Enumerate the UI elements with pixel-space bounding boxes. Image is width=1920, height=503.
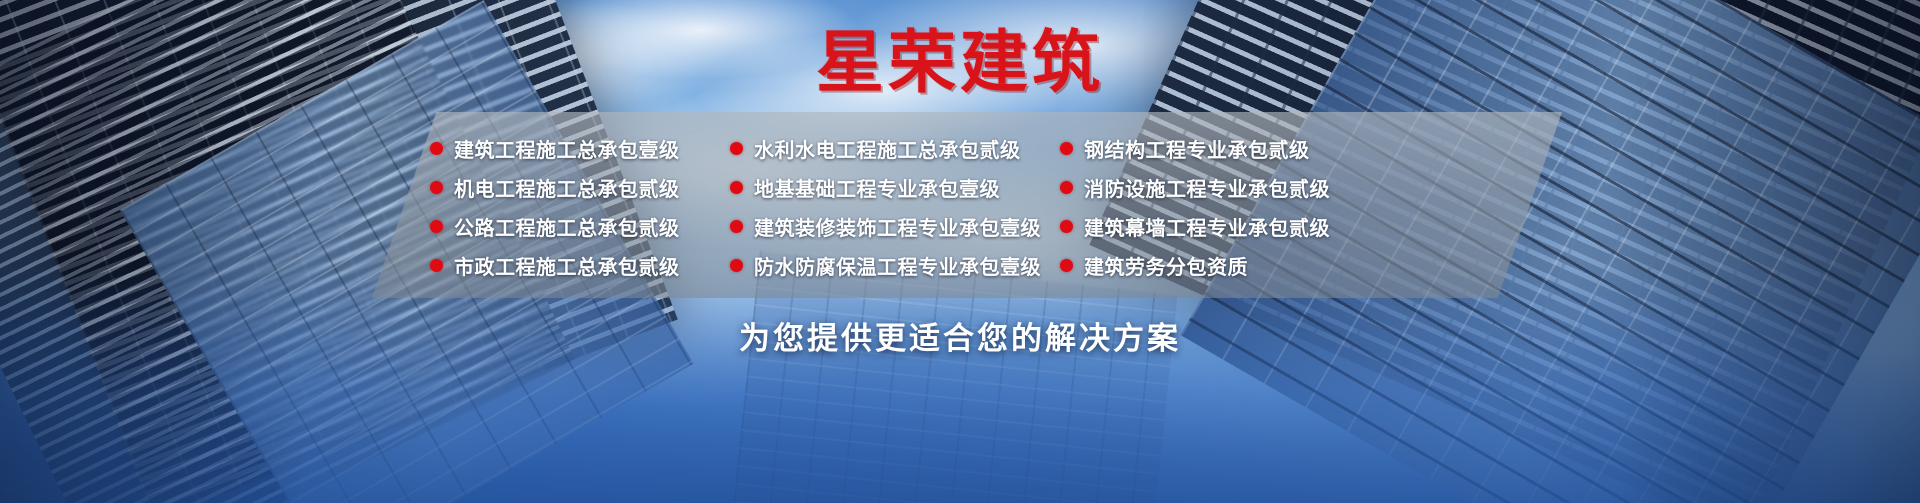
certification-label: 建筑劳务分包资质 [1084,251,1248,280]
certification-label: 市政工程施工总承包贰级 [454,251,680,280]
list-item: 市政工程施工总承包贰级 [430,250,730,282]
banner-title: 星荣建筑 [0,28,1920,99]
certification-label: 建筑装修装饰工程专业承包壹级 [754,212,1041,241]
list-item: 机电工程施工总承包贰级 [430,171,730,203]
bullet-dot-icon [1060,220,1073,233]
certification-column-1: 建筑工程施工总承包壹级 机电工程施工总承包贰级 公路工程施工总承包贰级 市政工程… [430,132,730,282]
bullet-dot-icon [430,220,443,233]
bullet-dot-icon [730,259,743,272]
company-name: 星荣建筑 [816,28,1104,99]
list-item: 水利水电工程施工总承包贰级 [730,132,1060,164]
list-item: 建筑劳务分包资质 [1060,250,1360,282]
certification-label: 钢结构工程专业承包贰级 [1084,134,1310,163]
list-item: 建筑装修装饰工程专业承包壹级 [730,211,1060,243]
tagline-text: 为您提供更适合您的解决方案 [739,313,1181,358]
certification-column-3: 钢结构工程专业承包贰级 消防设施工程专业承包贰级 建筑幕墙工程专业承包贰级 建筑… [1060,132,1360,282]
certification-column-2: 水利水电工程施工总承包贰级 地基基础工程专业承包壹级 建筑装修装饰工程专业承包壹… [730,132,1060,282]
bullet-dot-icon [730,181,743,194]
bullet-dot-icon [1060,181,1073,194]
bullet-dot-icon [730,220,743,233]
list-item: 建筑幕墙工程专业承包贰级 [1060,211,1360,243]
bullet-dot-icon [730,142,743,155]
list-item: 建筑工程施工总承包壹级 [430,132,730,164]
bullet-dot-icon [1060,259,1073,272]
bullet-dot-icon [430,142,443,155]
certification-label: 建筑工程施工总承包壹级 [454,134,680,163]
bullet-dot-icon [430,181,443,194]
banner-tagline: 为您提供更适合您的解决方案 [0,313,1920,358]
certification-label: 公路工程施工总承包贰级 [454,212,680,241]
certification-label: 建筑幕墙工程专业承包贰级 [1084,212,1330,241]
certification-label: 地基基础工程专业承包壹级 [754,173,1000,202]
certification-label: 水利水电工程施工总承包贰级 [754,134,1021,163]
list-item: 消防设施工程专业承包贰级 [1060,171,1360,203]
list-item: 防水防腐保温工程专业承包壹级 [730,250,1060,282]
certification-list: 建筑工程施工总承包壹级 机电工程施工总承包贰级 公路工程施工总承包贰级 市政工程… [430,132,1490,282]
list-item: 钢结构工程专业承包贰级 [1060,132,1360,164]
certification-label: 消防设施工程专业承包贰级 [1084,173,1330,202]
list-item: 地基基础工程专业承包壹级 [730,171,1060,203]
bullet-dot-icon [1060,142,1073,155]
list-item: 公路工程施工总承包贰级 [430,211,730,243]
certification-label: 机电工程施工总承包贰级 [454,173,680,202]
certification-label: 防水防腐保温工程专业承包壹级 [754,251,1041,280]
bullet-dot-icon [430,259,443,272]
promotional-banner: 星荣建筑 建筑工程施工总承包壹级 机电工程施工总承包贰级 公路工程施工总承包贰级… [0,0,1920,503]
